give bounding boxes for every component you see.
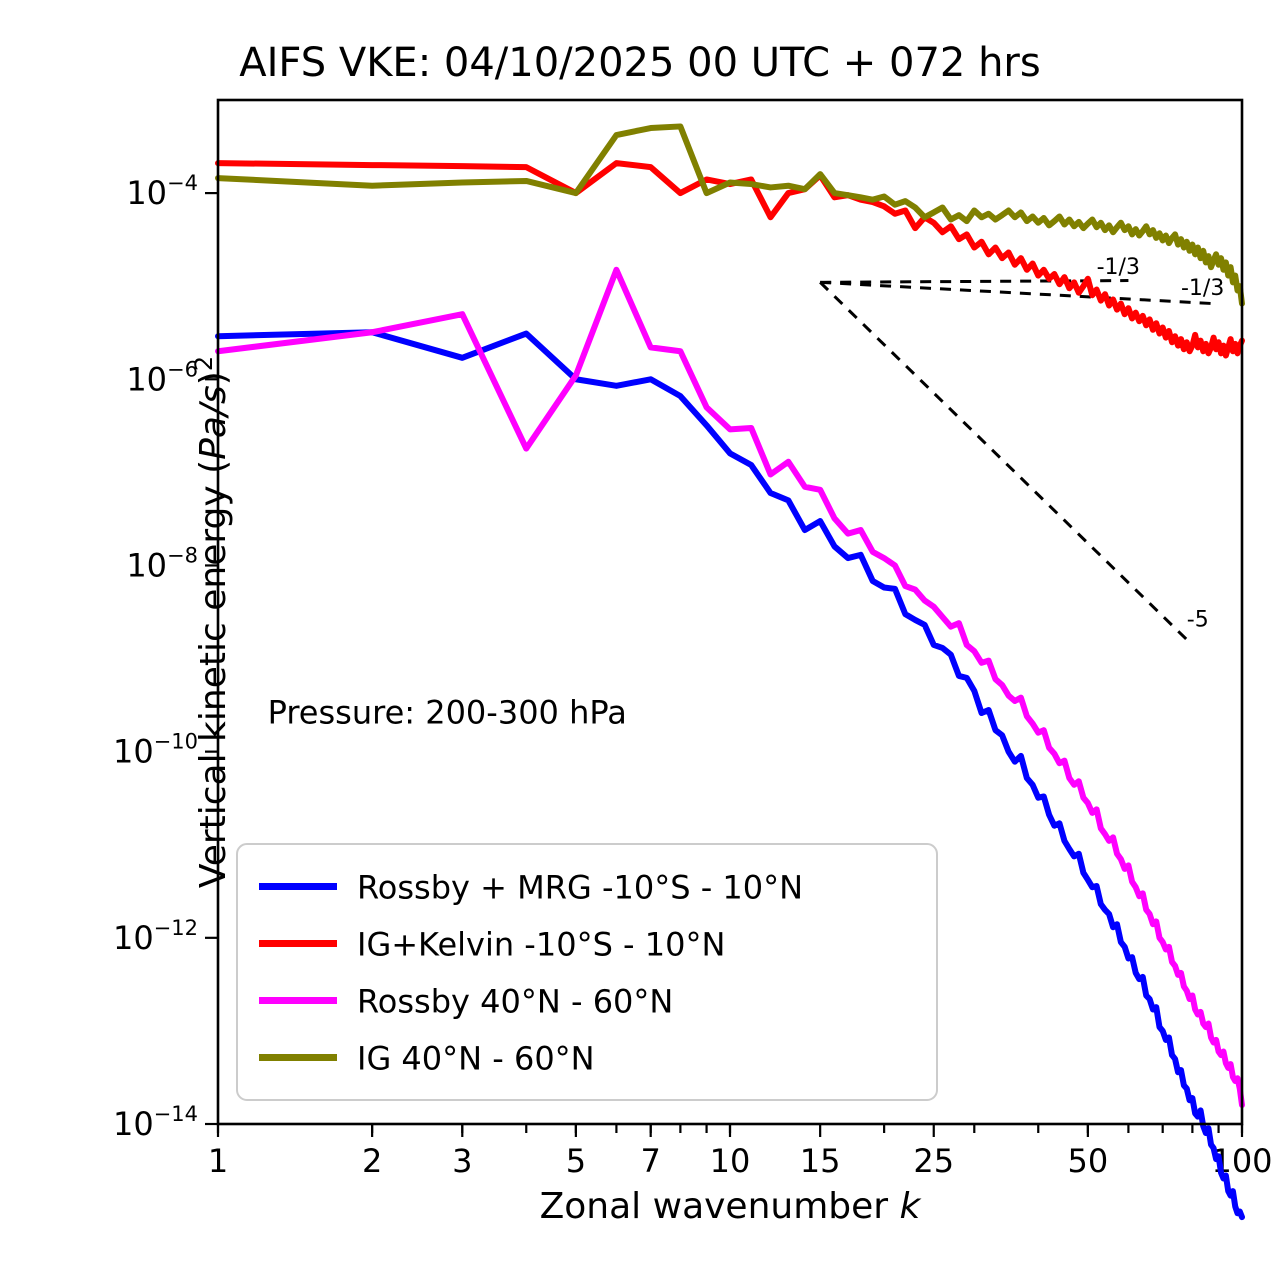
legend-label-1[interactable]: IG+Kelvin -10°S - 10°N [357, 926, 725, 964]
x-tick-label: 7 [641, 1142, 661, 1180]
series-line-1 [218, 163, 1242, 355]
x-tick-label: 1 [208, 1142, 228, 1180]
legend-label-3[interactable]: IG 40°N - 60°N [357, 1040, 595, 1078]
x-tick-label: 3 [452, 1142, 472, 1180]
x-tick-label: 10 [710, 1142, 751, 1180]
x-tick-label: 2 [362, 1142, 382, 1180]
pressure-annotation: Pressure: 200-300 hPa [268, 694, 627, 732]
x-tick-label: 25 [913, 1142, 954, 1180]
x-tick-label: 5 [566, 1142, 586, 1180]
legend[interactable]: Rossby + MRG -10°S - 10°NIG+Kelvin -10°S… [237, 844, 937, 1100]
slope-label-3: -5 [1187, 608, 1209, 633]
legend-label-0[interactable]: Rossby + MRG -10°S - 10°N [357, 869, 803, 907]
slope-label-2: -1/3 [1181, 276, 1224, 301]
x-tick-label: 15 [800, 1142, 841, 1180]
reference-line--5 [820, 282, 1187, 639]
plot-area: 123571015255010010−410−610−810−1010−1210… [0, 0, 1280, 1288]
slope-label-1: -1/3 [1097, 255, 1140, 280]
y-tick-label: 10−14 [113, 1102, 198, 1143]
y-tick-label: 10−8 [126, 543, 198, 584]
y-tick-label: 10−6 [126, 357, 198, 398]
y-tick-label: 10−12 [113, 916, 198, 957]
y-tick-label: 10−10 [113, 730, 198, 771]
y-tick-label: 10−4 [126, 171, 198, 212]
figure: AIFS VKE: 04/10/2025 00 UTC + 072 hrs Ve… [0, 0, 1280, 1288]
reference-line--1-3 [820, 281, 1128, 283]
legend-label-2[interactable]: Rossby 40°N - 60°N [357, 983, 673, 1021]
reference-line--1-3 [820, 282, 1213, 303]
x-tick-label: 50 [1068, 1142, 1109, 1180]
